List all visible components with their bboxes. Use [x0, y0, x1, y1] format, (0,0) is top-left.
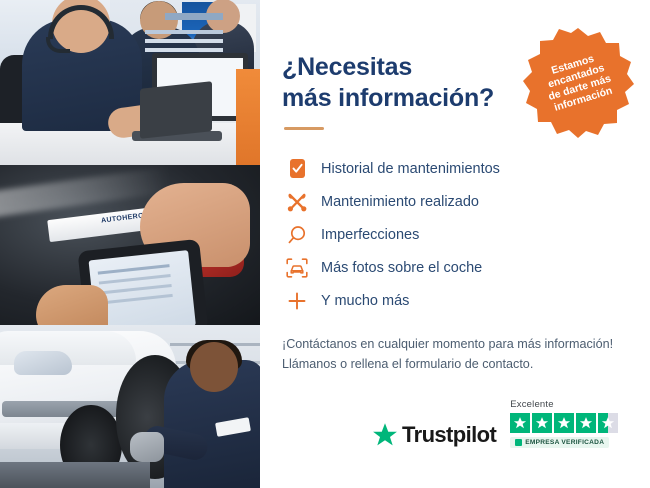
star-3 [554, 413, 574, 433]
verified-check-icon [515, 439, 522, 446]
car-headlight [14, 351, 72, 375]
photo-car-inspection: AUTOHERO [0, 165, 260, 325]
feature-label: Y mucho más [321, 293, 409, 309]
verified-badge: EMPRESA VERIFICADA [510, 437, 609, 448]
trustpilot-logo: Trustpilot [372, 422, 496, 448]
contact-line-2: Llámanos o rellena el formulario de cont… [282, 357, 533, 371]
feature-item-imperfections[interactable]: Imperfecciones [282, 218, 624, 251]
lift-ramp [0, 462, 150, 488]
car-scan-icon [282, 255, 312, 281]
content-panel: ¿Necesitas más información? Estamos enca… [260, 0, 650, 488]
contact-text: ¡Contáctanos en cualquier momento para m… [282, 334, 624, 375]
promo-card: AUTOHERO [0, 0, 650, 488]
monitor-screen-bar [165, 13, 223, 20]
trustpilot-widget[interactable]: Trustpilot Excelente [372, 399, 618, 448]
rating-label: Excelente [510, 399, 554, 410]
feature-item-more-photos[interactable]: Más fotos sobre el coche [282, 251, 624, 284]
feature-item-much-more[interactable]: Y mucho más [282, 284, 624, 317]
contact-line-1: ¡Contáctanos en cualquier momento para m… [282, 337, 613, 351]
headset-icon [508, 39, 531, 58]
inspector-hand-holding-tablet [36, 285, 108, 325]
feature-label: Mantenimiento realizado [321, 194, 479, 210]
star-5-half [598, 413, 618, 433]
feature-item-maintenance-done[interactable]: Mantenimiento realizado [282, 185, 624, 218]
magnifier-icon [282, 222, 312, 248]
tablet-screen-lines [98, 264, 170, 275]
mechanic-glove [130, 432, 164, 462]
trustpilot-wordmark: Trustpilot [402, 422, 496, 448]
verified-label: EMPRESA VERIFICADA [525, 439, 604, 446]
star-4 [576, 413, 596, 433]
star-2 [532, 413, 552, 433]
feature-label: Historial de mantenimientos [321, 161, 500, 177]
clipboard-check-icon [282, 156, 312, 182]
monitor-screen-rows [145, 30, 223, 34]
mechanic-head [190, 342, 238, 392]
promo-badge: Estamos encantados de darte más informac… [522, 26, 634, 138]
tools-icon [282, 189, 312, 215]
rating-stars [510, 413, 618, 433]
photo-collage: AUTOHERO [0, 0, 260, 488]
plus-icon [282, 288, 312, 314]
trustpilot-rating: Excelente [510, 399, 618, 448]
orange-accent-strip [236, 69, 260, 165]
title-divider [284, 127, 324, 130]
feature-label: Más fotos sobre el coche [321, 260, 482, 276]
headline-line-1: ¿Necesitas [282, 53, 412, 81]
badge-text: Estamos encantados de darte más informac… [525, 45, 631, 120]
headline-line-2: más información? [282, 84, 494, 112]
feature-list: Historial de mantenimientos M [282, 152, 624, 317]
trustpilot-star-icon [372, 422, 398, 448]
feature-label: Imperfecciones [321, 227, 419, 243]
photo-tire-inspection [0, 325, 260, 488]
star-1 [510, 413, 530, 433]
feature-item-maintenance-history[interactable]: Historial de mantenimientos [282, 152, 624, 185]
laptop-screen [140, 81, 212, 139]
photo-call-center [0, 0, 260, 165]
